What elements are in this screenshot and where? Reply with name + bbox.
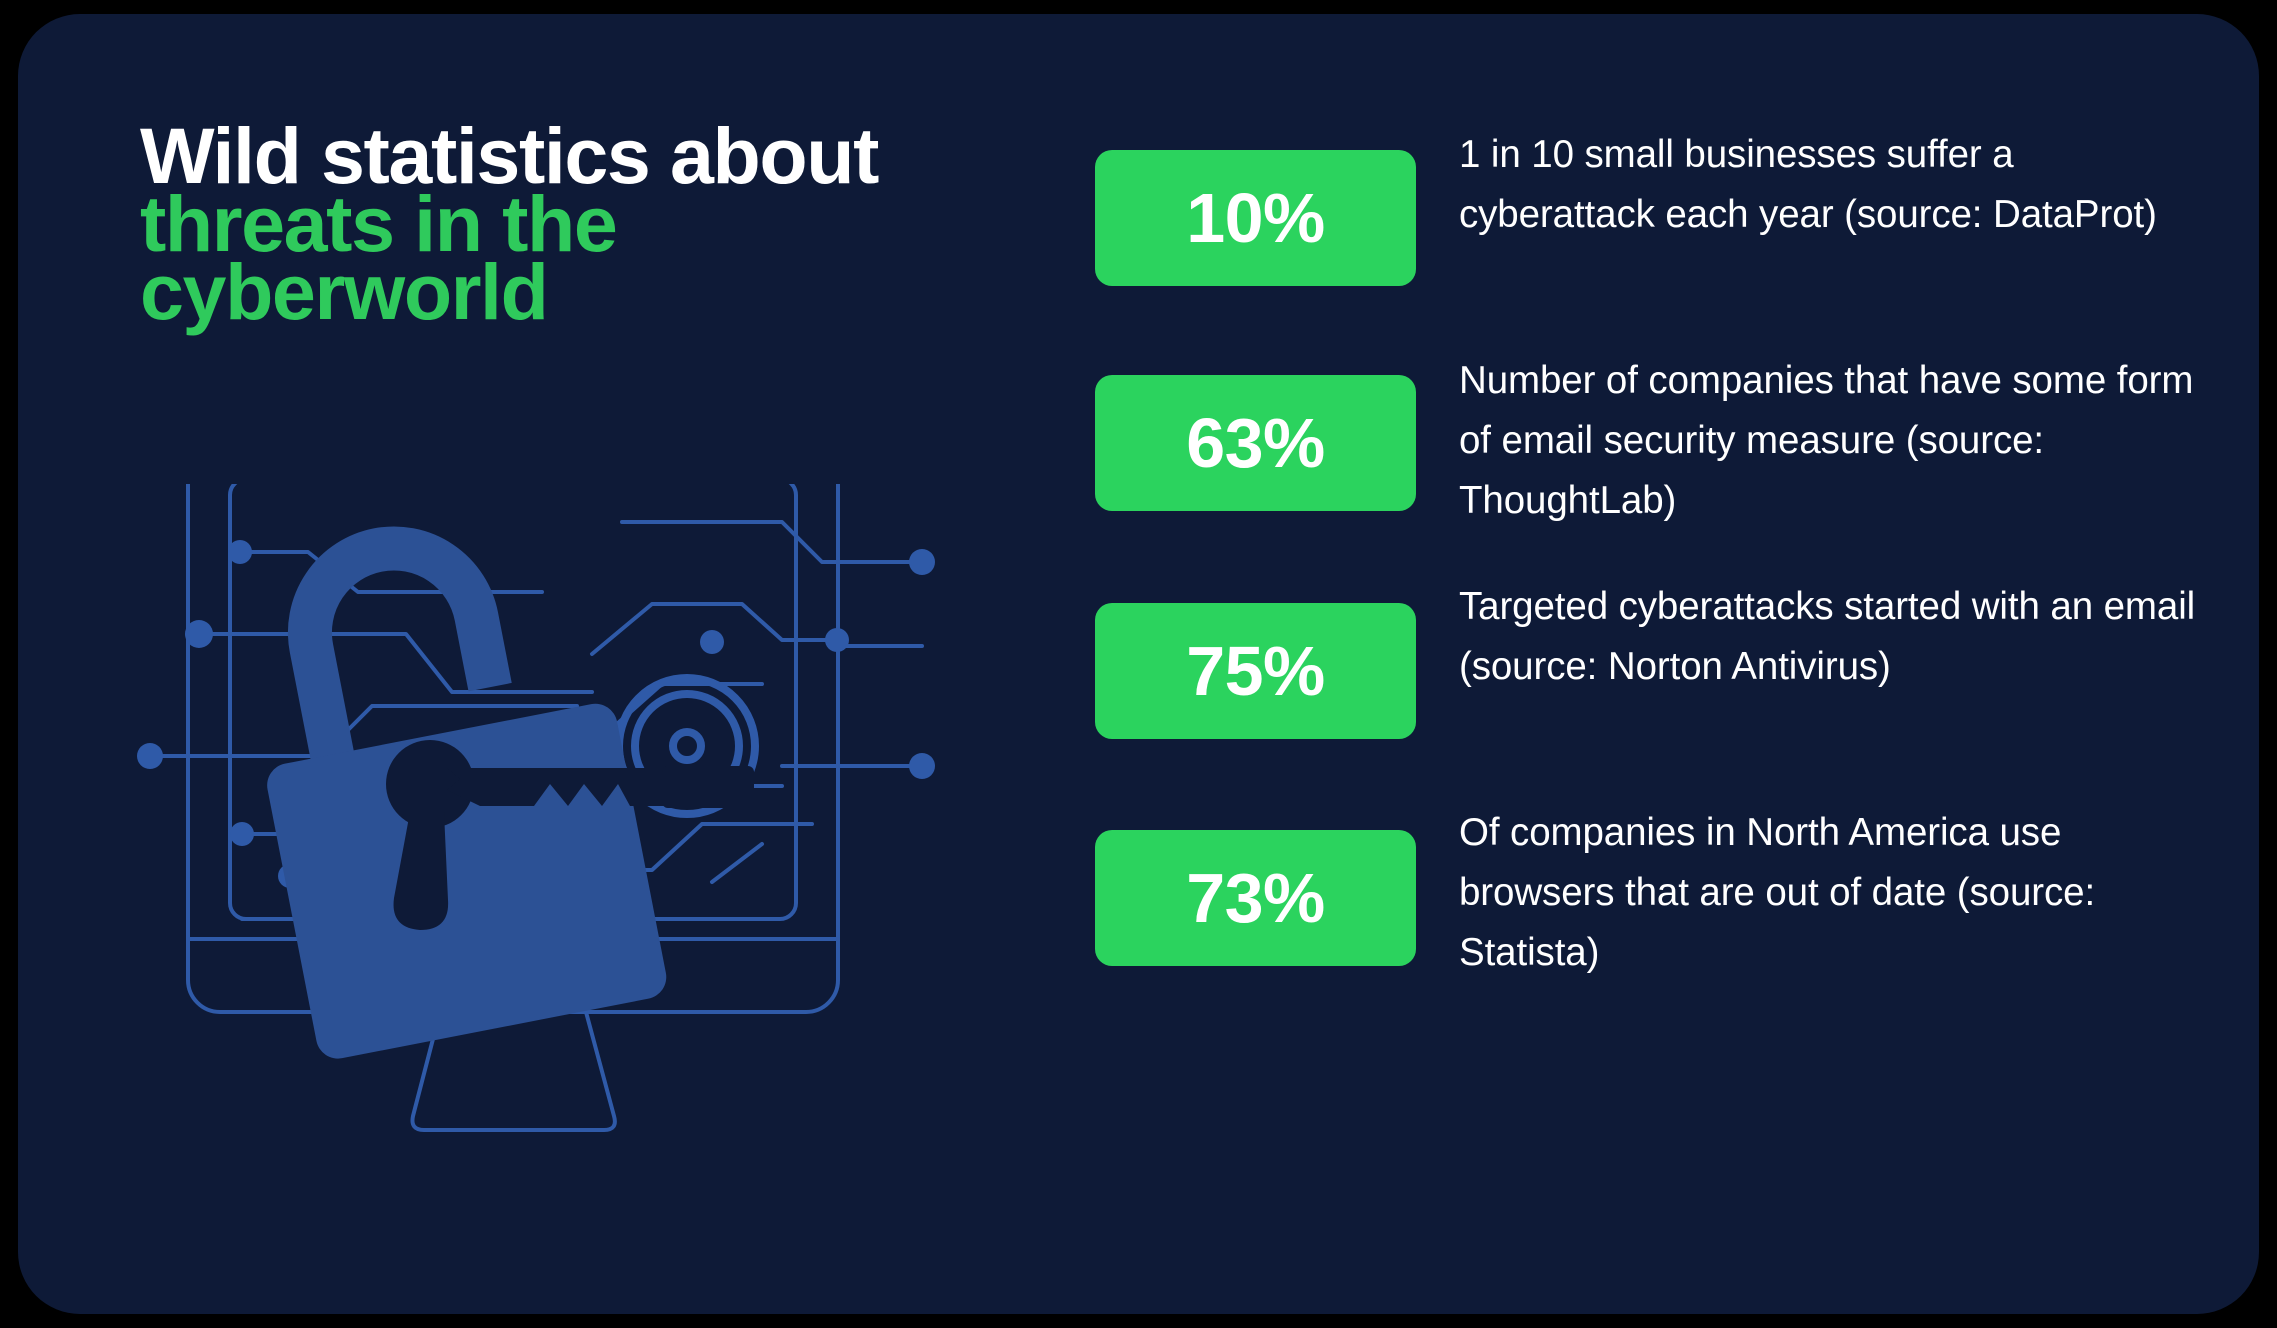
stat-badge-value: 63% — [1095, 375, 1416, 511]
headline-line-3: cyberworld — [140, 258, 1000, 326]
stat-description: Number of companies that have some form … — [1459, 348, 2215, 531]
statistics-list: 10% 1 in 10 small businesses suffer a cy… — [1095, 122, 2215, 983]
stat-description: Targeted cyberattacks started with an em… — [1459, 574, 2215, 697]
key — [447, 766, 754, 808]
stat-badge-value: 10% — [1095, 150, 1416, 286]
trace-left-2 — [199, 634, 592, 692]
circuit-node — [700, 630, 724, 654]
stat-description: 1 in 10 small businesses suffer a cybera… — [1459, 122, 2215, 245]
circuit-node — [909, 753, 935, 779]
stat-row: 75% Targeted cyberattacks started with a… — [1095, 574, 2215, 800]
infographic-card: Wild statistics about threats in the cyb… — [18, 14, 2259, 1314]
left-column: Wild statistics about threats in the cyb… — [122, 14, 1022, 1314]
stat-row: 73% Of companies in North America use br… — [1095, 800, 2215, 983]
stat-row: 63% Number of companies that have some f… — [1095, 348, 2215, 574]
stat-description: Of companies in North America use browse… — [1459, 800, 2215, 983]
circuit-node — [230, 822, 254, 846]
circuit-node — [909, 549, 935, 575]
circuit-node — [137, 743, 163, 769]
circuit-node — [825, 628, 849, 652]
cybersecurity-illustration — [122, 484, 962, 1184]
stat-badge-value: 73% — [1095, 830, 1416, 966]
circuit-node — [185, 620, 213, 648]
stat-row: 10% 1 in 10 small businesses suffer a cy… — [1095, 122, 2215, 348]
trace-right-1 — [622, 522, 922, 562]
stat-badge-value: 75% — [1095, 603, 1416, 739]
trace-right-8 — [712, 844, 762, 882]
circuit-node — [228, 540, 252, 564]
page-title: Wild statistics about threats in the cyb… — [140, 122, 1000, 326]
